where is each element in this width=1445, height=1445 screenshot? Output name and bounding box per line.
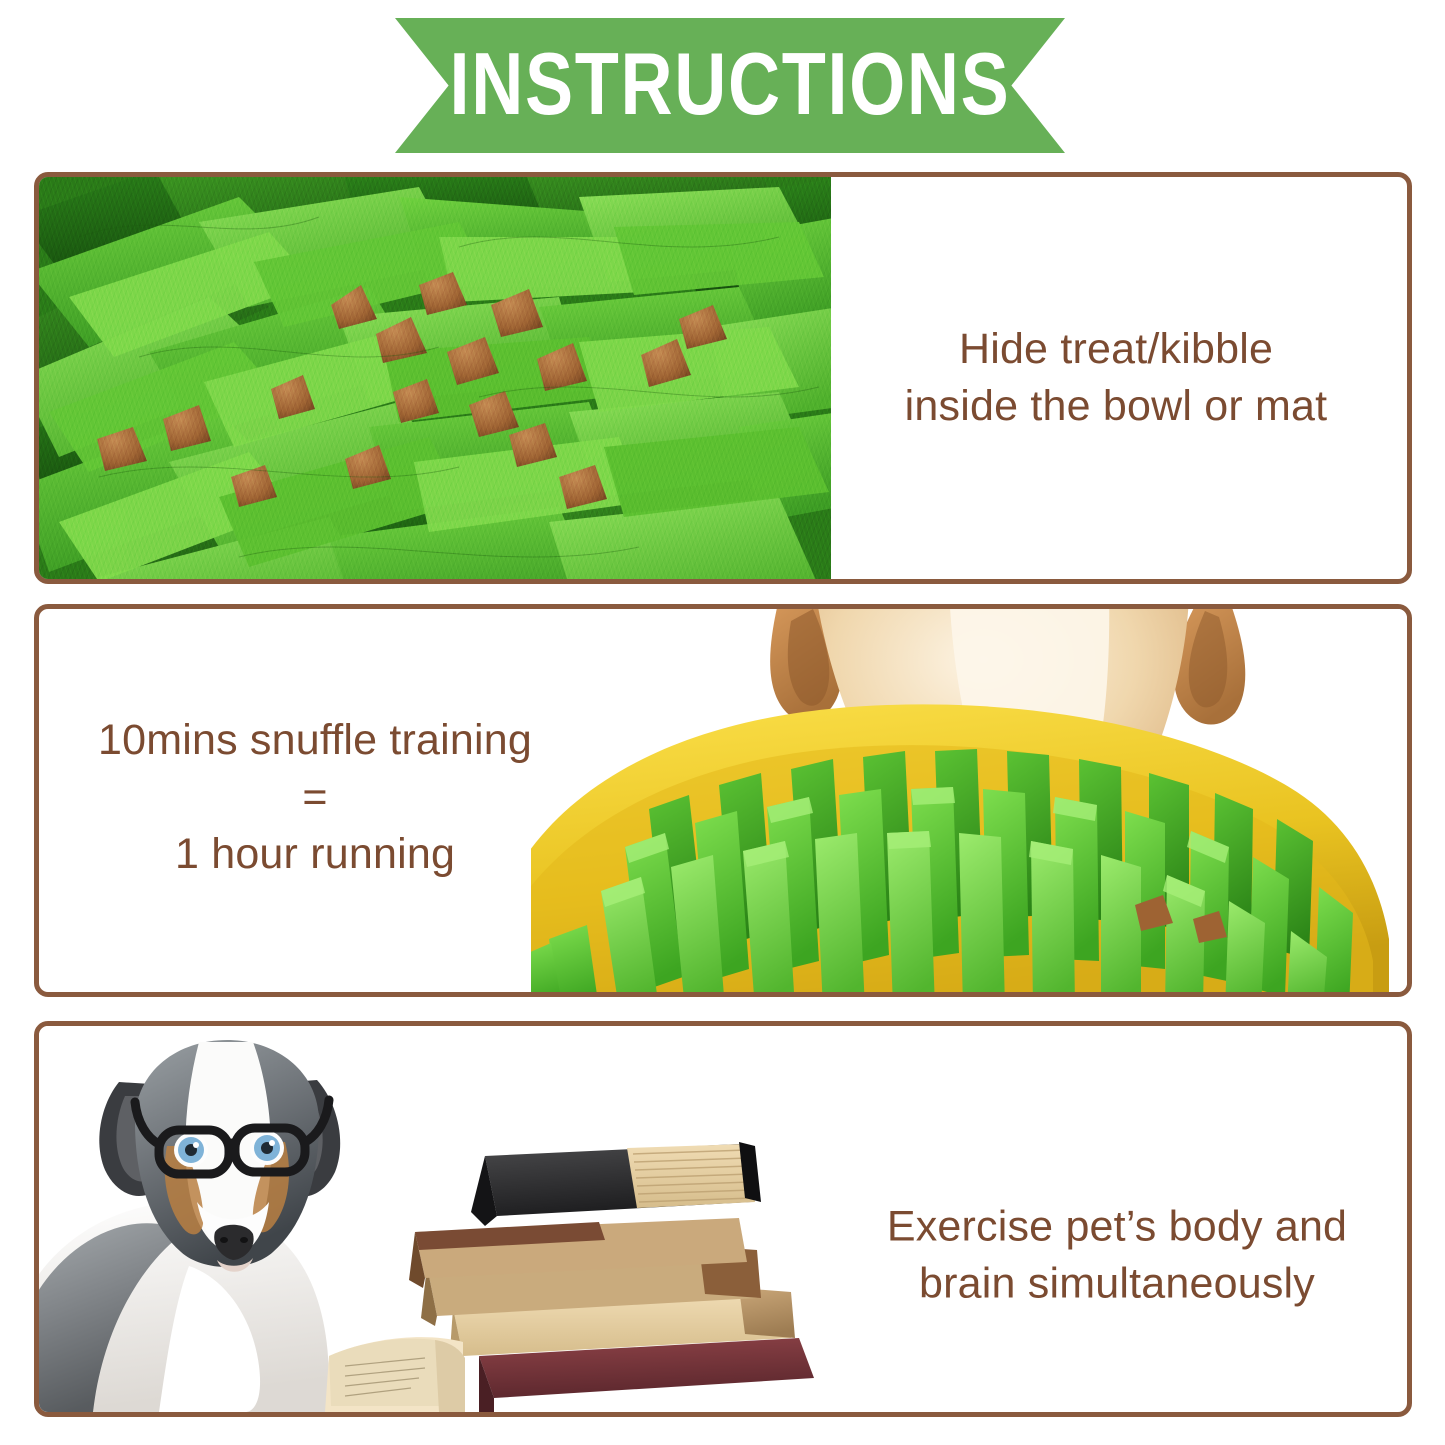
instruction-panel-1: Hide treat/kibble inside the bowl or mat bbox=[34, 172, 1412, 584]
infographic-page: INSTRUCTIONS bbox=[0, 0, 1445, 1445]
instruction-panel-2: 10mins snuffle training = 1 hour running bbox=[34, 604, 1412, 997]
banner-title: INSTRUCTIONS bbox=[455, 18, 1004, 153]
dog-with-glasses-and-books bbox=[39, 1026, 829, 1412]
snuffle-mat-illustration bbox=[39, 177, 831, 579]
panel-1-caption: Hide treat/kibble inside the bowl or mat bbox=[851, 321, 1381, 435]
instruction-panel-3: Exercise pet’s body and brain simultaneo… bbox=[34, 1021, 1412, 1417]
green-snuffle-mat-with-kibble-closeup bbox=[39, 177, 831, 579]
panel-2-caption: 10mins snuffle training = 1 hour running bbox=[55, 711, 575, 883]
dog-sniffing-snuffle-bowl bbox=[531, 609, 1407, 992]
dog-and-bowl-illustration bbox=[531, 609, 1407, 992]
instructions-banner: INSTRUCTIONS bbox=[395, 18, 1065, 153]
panel-3-caption: Exercise pet’s body and brain simultaneo… bbox=[847, 1198, 1387, 1312]
smart-dog-illustration bbox=[39, 1026, 829, 1412]
